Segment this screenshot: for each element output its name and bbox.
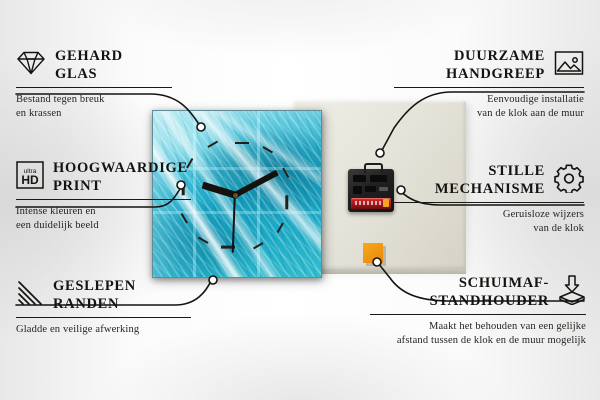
feature-hoogwaardige-print: ultra HD HOOGWAARDIGE PRINT Intense kleu…	[16, 160, 191, 233]
infographic-canvas: GEHARD GLAS Bestand tegen breuk en krass…	[0, 0, 600, 400]
window-reflection-vertical	[257, 111, 260, 277]
feature-geslepen-randen: GESLEPEN RANDEN Gladde en veilige afwerk…	[16, 278, 191, 337]
foam-spacer-icon	[558, 275, 586, 310]
feature-title: SCHUIMAF- STANDHOUDER	[430, 275, 549, 310]
feature-description: Geruisloze wijzers van de klok	[394, 208, 584, 236]
movement-label	[379, 187, 388, 191]
movement-slot	[353, 186, 362, 194]
hour-marker-12	[235, 142, 249, 145]
battery-label	[355, 201, 381, 205]
feature-duurzame-handgreep: DUURZAME HANDGREEP Eenvoudige installati…	[394, 48, 584, 121]
feature-description: Eenvoudige installatie van de klok aan d…	[394, 93, 584, 121]
feature-title: GEHARD GLAS	[55, 48, 123, 83]
feature-description: Maakt het behouden van een gelijke afsta…	[370, 320, 586, 348]
feature-description: Intense kleuren en een duidelijk beeld	[16, 205, 191, 233]
center-cap	[233, 193, 238, 198]
movement-slot	[353, 175, 366, 182]
movement-hanger	[364, 163, 383, 173]
quartz-movement	[348, 169, 394, 212]
movement-slot	[370, 175, 387, 182]
battery-plus-terminal	[383, 199, 389, 207]
feature-title: STILLE MECHANISME	[435, 163, 545, 198]
feature-title: DUURZAME HANDGREEP	[446, 48, 545, 83]
svg-text:HD: HD	[21, 173, 39, 187]
gear-icon	[554, 164, 584, 198]
battery	[351, 198, 391, 209]
beveled-edge-icon	[16, 280, 44, 311]
feature-description: Bestand tegen breuk en krassen	[16, 93, 172, 121]
window-reflection-vertical	[193, 111, 196, 277]
feature-divider	[394, 202, 584, 203]
feature-divider	[16, 199, 191, 200]
feature-divider	[16, 87, 172, 88]
feature-description: Gladde en veilige afwerking	[16, 323, 191, 337]
foam-spacer	[363, 243, 383, 263]
picture-frame-icon	[554, 50, 584, 81]
feature-divider	[394, 87, 584, 88]
feature-stille-mechanisme: STILLE MECHANISME Geruisloze wijzers van…	[394, 163, 584, 236]
feature-title: GESLEPEN RANDEN	[53, 278, 136, 313]
feature-divider	[370, 314, 586, 315]
feature-title: HOOGWAARDIGE PRINT	[53, 160, 188, 195]
ultra-hd-icon: ultra HD	[16, 161, 44, 194]
diamond-icon	[16, 50, 46, 81]
feature-schuimaf-standhouder: SCHUIMAF- STANDHOUDER Maakt het behouden…	[370, 275, 586, 348]
feature-divider	[16, 317, 191, 318]
hour-marker-3	[286, 195, 289, 209]
movement-slot	[365, 186, 376, 192]
feature-gehard-glas: GEHARD GLAS Bestand tegen breuk en krass…	[16, 48, 172, 121]
